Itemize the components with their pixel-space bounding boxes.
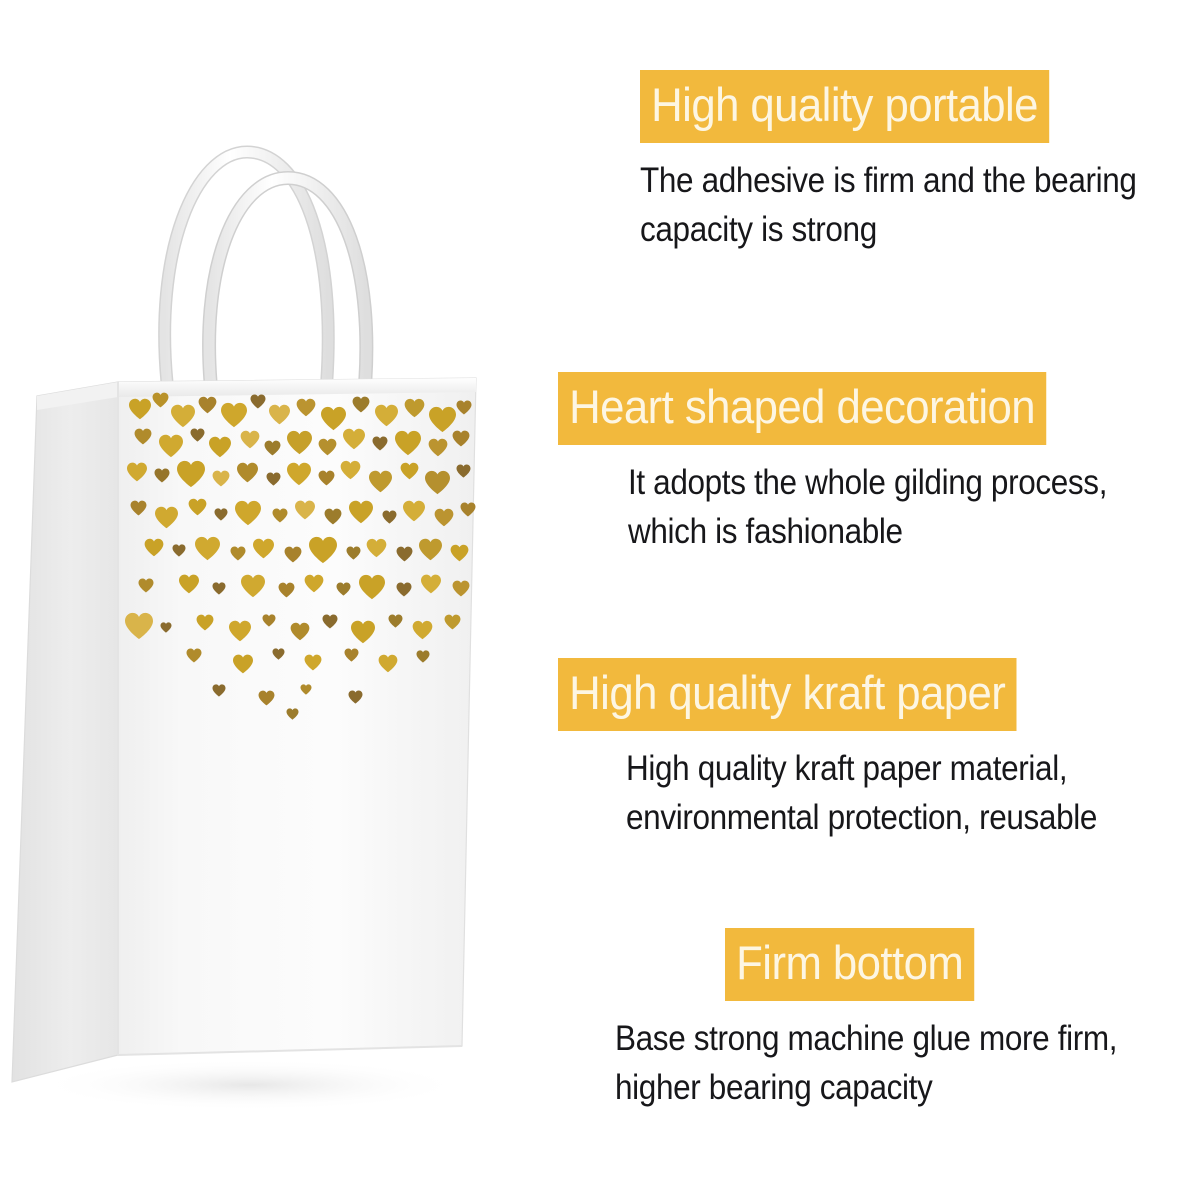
feature-heading-row-0: High quality portable: [640, 70, 1200, 143]
feature-block-3: Firm bottom Base strong machine glue mor…: [725, 928, 1200, 1112]
feature-body-0: The adhesive is firm and the bearing cap…: [640, 157, 1200, 254]
feature-body-line-0-0: The adhesive is firm and the bearing: [640, 157, 1200, 206]
feature-block-2: High quality kraft paper High quality kr…: [558, 658, 1200, 842]
feature-list: High quality portable The adhesive is fi…: [540, 0, 1200, 1200]
feature-heading-1: Heart shaped decoration: [558, 372, 1046, 445]
bag-shadow: [35, 1059, 465, 1111]
feature-block-0: High quality portable The adhesive is fi…: [640, 70, 1200, 254]
bag-handle-front: [209, 178, 366, 398]
feature-body-3: Base strong machine glue more firm, high…: [615, 1015, 1200, 1112]
bag-side-gusset: [12, 382, 118, 1082]
feature-body-line-3-1: higher bearing capacity: [615, 1064, 1200, 1113]
feature-body-1: It adopts the whole gilding process, whi…: [628, 459, 1159, 556]
feature-heading-row-3: Firm bottom: [725, 928, 1200, 1001]
feature-heading-0: High quality portable: [640, 70, 1049, 143]
feature-heading-2: High quality kraft paper: [558, 658, 1016, 731]
feature-body-line-0-1: capacity is strong: [640, 206, 1200, 255]
product-photo: [0, 0, 540, 1200]
feature-body-line-2-1: environmental protection, reusable: [626, 794, 1159, 843]
feature-heading-row-1: Heart shaped decoration: [558, 372, 1200, 445]
feature-block-1: Heart shaped decoration It adopts the wh…: [558, 372, 1200, 556]
feature-body-2: High quality kraft paper material, envir…: [626, 745, 1159, 842]
feature-heading-row-2: High quality kraft paper: [558, 658, 1200, 731]
feature-body-line-3-0: Base strong machine glue more firm,: [615, 1015, 1200, 1064]
gift-bag-illustration: [0, 0, 540, 1200]
feature-body-line-1-1: which is fashionable: [628, 508, 1159, 557]
infographic-page: High quality portable The adhesive is fi…: [0, 0, 1200, 1200]
feature-body-line-2-0: High quality kraft paper material,: [626, 745, 1159, 794]
feature-heading-3: Firm bottom: [725, 928, 974, 1001]
feature-body-line-1-0: It adopts the whole gilding process,: [628, 459, 1159, 508]
